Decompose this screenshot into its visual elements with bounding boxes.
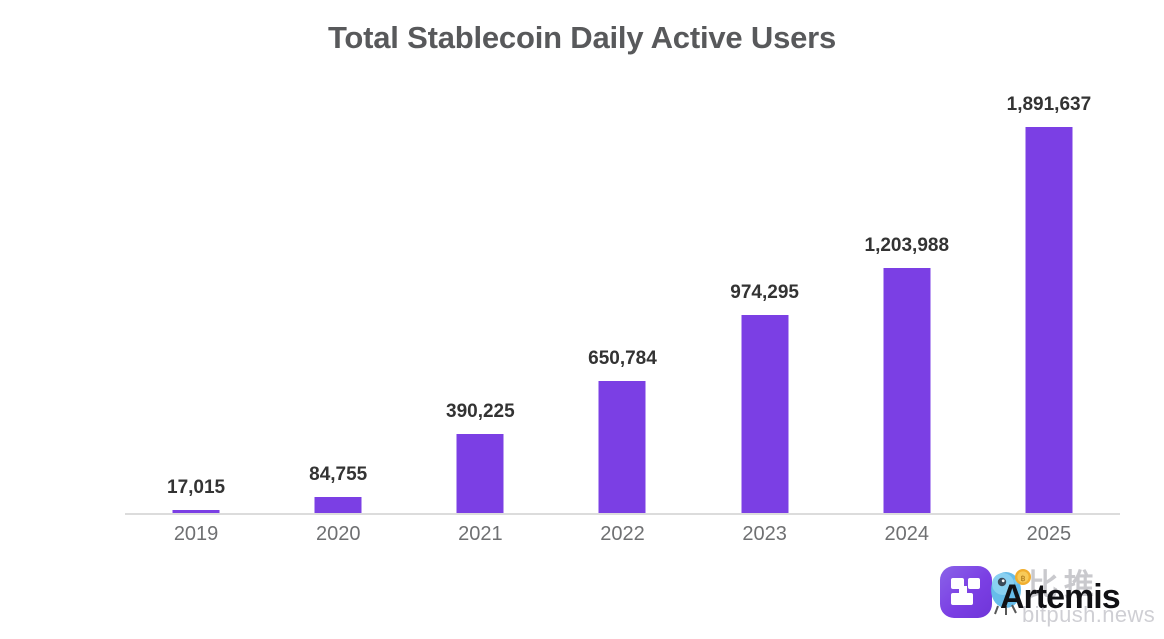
watermark-site-text: bitpush.news [1022, 602, 1155, 628]
bar-group-2019: 17,015 [125, 90, 267, 514]
bar-group-2023: 974,295 [694, 90, 836, 514]
bar-group-2021: 390,225 [409, 90, 551, 514]
bar-group-2024: 1,203,988 [836, 90, 978, 514]
x-tick-label-2025: 2025 [1027, 523, 1072, 546]
plot-area: 17,01584,755390,225650,784974,2951,203,9… [125, 90, 1120, 514]
bar-2025[interactable] [1025, 127, 1072, 514]
bar-2020[interactable] [315, 497, 362, 514]
x-tick-label-2020: 2020 [316, 523, 361, 546]
x-tick-label-2021: 2021 [458, 523, 503, 546]
bar-2023[interactable] [741, 315, 788, 514]
x-tick-label-2024: 2024 [885, 523, 930, 546]
bar-value-label-2022: 650,784 [588, 348, 657, 370]
bar-value-label-2024: 1,203,988 [865, 235, 950, 257]
x-tick-label-2019: 2019 [174, 523, 219, 546]
x-tick-label-2022: 2022 [600, 523, 645, 546]
bar-value-label-2021: 390,225 [446, 401, 515, 423]
bar-value-label-2023: 974,295 [730, 282, 799, 304]
bar-group-2022: 650,784 [551, 90, 693, 514]
x-axis-label-group: 2019202020212022202320242025 [125, 523, 1120, 563]
bar-2021[interactable] [457, 434, 504, 514]
bar-value-label-2020: 84,755 [309, 464, 367, 486]
bar-2024[interactable] [883, 268, 930, 514]
bar-2022[interactable] [599, 381, 646, 514]
x-tick-label-2023: 2023 [742, 523, 787, 546]
bar-group-2020: 84,755 [267, 90, 409, 514]
chart-title: Total Stablecoin Daily Active Users [0, 20, 1164, 56]
bar-value-label-2025: 1,891,637 [1007, 94, 1092, 116]
bar-value-label-2019: 17,015 [167, 477, 225, 499]
x-axis-line [125, 513, 1120, 515]
bar-group-2025: 1,891,637 [978, 90, 1120, 514]
chart-container: Total Stablecoin Daily Active Users 17,0… [0, 0, 1164, 639]
branding-block: ฿ 比推 Artemis bitpush.news [930, 558, 1164, 639]
